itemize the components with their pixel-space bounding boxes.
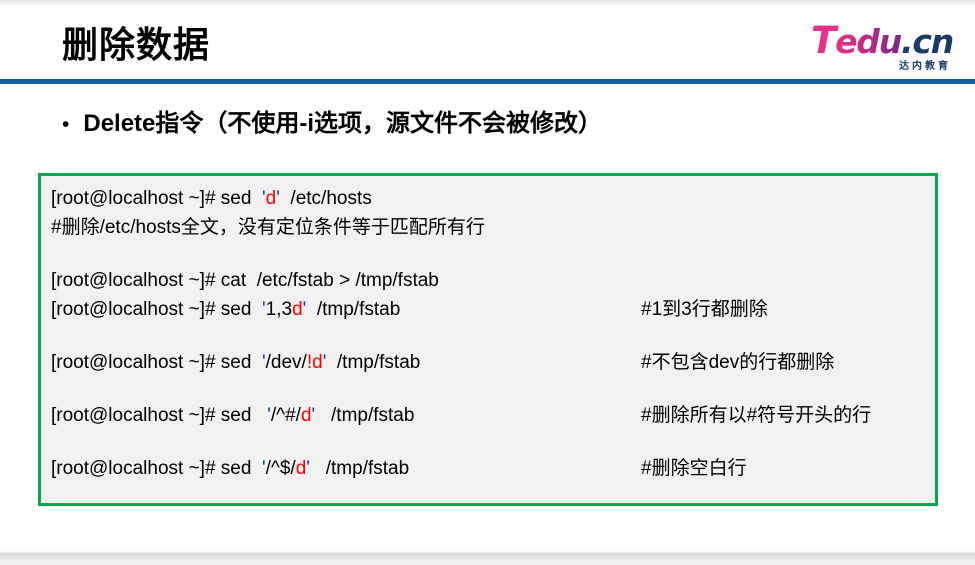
tedu-logo: Tedu.cn 达内教育 xyxy=(803,24,953,76)
code-line-content: [root@localhost ~]# sed '/^#/d' /tmp/fst… xyxy=(51,401,935,430)
code-line-content: [root@localhost ~]# sed 'd' /etc/hosts xyxy=(51,184,935,213)
sed-delete-operator: d xyxy=(301,405,312,426)
code-blank-line xyxy=(51,324,935,348)
code-line-content: #删除/etc/hosts全文，没有定位条件等于匹配所有行 xyxy=(51,213,935,242)
bullet-marker-icon: • xyxy=(62,110,69,140)
shell-prompt-and-command: [root@localhost ~]# sed xyxy=(51,188,262,209)
code-inline-note: #1到3行都删除 xyxy=(641,295,768,324)
code-blank-line xyxy=(51,377,935,401)
shell-prompt-and-command: [root@localhost ~]# sed xyxy=(51,352,262,373)
code-line: [root@localhost ~]# sed '/^$/d' /tmp/fst… xyxy=(51,454,935,483)
sed-delete-operator: d xyxy=(296,458,307,479)
logo-text-cn: .cn xyxy=(901,22,953,61)
slide-bottom-edge xyxy=(0,551,975,565)
code-line-content: [root@localhost ~]# sed '/dev/!d' /tmp/f… xyxy=(51,348,935,377)
code-line: [root@localhost ~]# sed '1,3d' /tmp/fsta… xyxy=(51,295,935,324)
code-blank-line xyxy=(51,430,935,454)
code-command-text: [root@localhost ~]# sed '1,3d' /tmp/fsta… xyxy=(51,295,400,324)
code-line: [root@localhost ~]# sed 'd' /etc/hosts xyxy=(51,184,935,213)
command-target-file: /tmp/fstab xyxy=(326,352,420,373)
code-line-content: [root@localhost ~]# cat /etc/fstab > /tm… xyxy=(51,266,935,295)
code-command-text: [root@localhost ~]# sed 'd' /etc/hosts xyxy=(51,184,372,213)
code-line-content: [root@localhost ~]# sed '1,3d' /tmp/fsta… xyxy=(51,295,935,324)
code-comment-text: #删除/etc/hosts全文，没有定位条件等于匹配所有行 xyxy=(51,213,485,242)
sed-delete-operator: d xyxy=(266,188,277,209)
logo-text-edu: edu xyxy=(835,22,901,61)
code-inline-note: #删除所有以#符号开头的行 xyxy=(641,401,871,430)
command-target-file: /etc/hosts xyxy=(280,188,372,209)
code-blank-line xyxy=(51,242,935,266)
code-command-text: [root@localhost ~]# sed '/^#/d' /tmp/fst… xyxy=(51,401,414,430)
sed-delete-operator: !d xyxy=(307,352,323,373)
header-divider xyxy=(0,79,975,84)
sed-address-expression: /^#/ xyxy=(271,405,301,426)
code-command-text: [root@localhost ~]# sed '/dev/!d' /tmp/f… xyxy=(51,348,420,377)
sed-address-expression: 1,3 xyxy=(266,299,292,320)
code-line: [root@localhost ~]# sed '/dev/!d' /tmp/f… xyxy=(51,348,935,377)
command-target-file: /tmp/fstab xyxy=(306,299,400,320)
bullet-point: • Delete指令（不使用-i选项，源文件不会被修改） xyxy=(62,108,602,140)
shell-prompt-and-command: [root@localhost ~]# sed xyxy=(51,405,267,426)
logo-letter-t: T xyxy=(811,19,835,62)
logo-wordmark: Tedu.cn xyxy=(803,24,953,59)
logo-subtitle: 达内教育 xyxy=(803,60,953,74)
command-target-file: /tmp/fstab xyxy=(310,458,409,479)
shell-prompt-and-command: [root@localhost ~]# sed xyxy=(51,458,262,479)
code-inline-note: #不包含dev的行都删除 xyxy=(641,348,834,377)
slide-canvas: 删除数据 Tedu.cn 达内教育 • Delete指令（不使用-i选项，源文件… xyxy=(0,0,975,565)
sed-address-expression: /^$/ xyxy=(266,458,296,479)
sed-delete-operator: d xyxy=(292,299,303,320)
code-block: [root@localhost ~]# sed 'd' /etc/hosts#删… xyxy=(38,173,938,506)
page-title: 删除数据 xyxy=(62,22,210,68)
code-line-content: [root@localhost ~]# sed '/^$/d' /tmp/fst… xyxy=(51,454,935,483)
code-lines-container: [root@localhost ~]# sed 'd' /etc/hosts#删… xyxy=(41,176,935,483)
code-line: [root@localhost ~]# sed '/^#/d' /tmp/fst… xyxy=(51,401,935,430)
sed-address-expression: /dev/ xyxy=(266,352,307,373)
command-target-file: /tmp/fstab xyxy=(315,405,414,426)
slide-top-edge xyxy=(0,0,975,6)
shell-prompt-and-command: [root@localhost ~]# sed xyxy=(51,299,262,320)
code-line: #删除/etc/hosts全文，没有定位条件等于匹配所有行 xyxy=(51,213,935,242)
bullet-label: Delete指令（不使用-i选项，源文件不会被修改） xyxy=(83,108,602,140)
code-command-text: [root@localhost ~]# sed '/^$/d' /tmp/fst… xyxy=(51,454,409,483)
code-inline-note: #删除空白行 xyxy=(641,454,747,483)
shell-prompt-and-command: [root@localhost ~]# cat /etc/fstab > /tm… xyxy=(51,270,439,291)
code-line: [root@localhost ~]# cat /etc/fstab > /tm… xyxy=(51,266,935,295)
code-command-text: [root@localhost ~]# cat /etc/fstab > /tm… xyxy=(51,266,439,295)
